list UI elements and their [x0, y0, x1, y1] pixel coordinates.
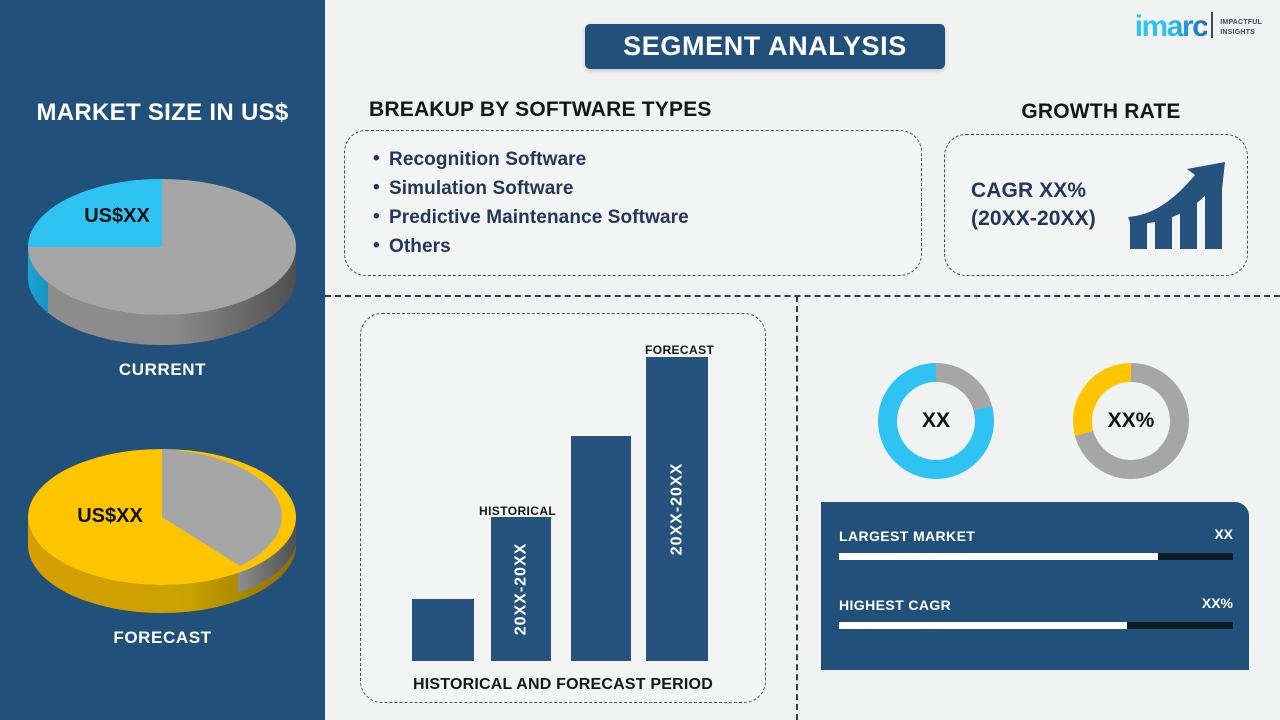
percent-donut-label: XX% [1092, 382, 1170, 460]
units-donut-label: XX [897, 382, 975, 460]
stat-progress-track [839, 622, 1233, 629]
stat-label: LARGEST MARKET [839, 528, 975, 544]
bar-2-label: 20XX-20XX [512, 543, 530, 636]
logo-tagline: IMPACTFUL INSIGHTS [1220, 18, 1262, 40]
bar-tag-historical: HISTORICAL [479, 504, 556, 518]
imarc-logo: imarc IMPACTFUL INSIGHTS [1135, 12, 1262, 40]
logo-wordmark: imarc [1135, 13, 1208, 40]
list-item: Simulation Software [373, 174, 921, 203]
vertical-divider [796, 296, 798, 720]
bar-4-label: 20XX-20XX [668, 463, 686, 556]
stat-label: HIGHEST CAGR [839, 597, 951, 613]
bar-tag-forecast: FORECAST [645, 343, 714, 357]
stat-row-largest-market: LARGEST MARKET XX [839, 528, 1233, 560]
bar-2: 20XX-20XX [491, 517, 551, 661]
list-item: Predictive Maintenance Software [373, 203, 921, 232]
cagr-line1: CAGR XX% [971, 177, 1096, 205]
cagr-line2: (20XX-20XX) [971, 205, 1096, 233]
market-size-panel: MARKET SIZE IN US$ [0, 0, 325, 720]
forecast-pie-caption: FORECAST [0, 628, 325, 648]
infographic-canvas: MARKET SIZE IN US$ [0, 0, 1280, 720]
current-market-size-pie: US$XX [0, 155, 325, 355]
growth-rate-heading: GROWTH RATE [941, 100, 1261, 124]
breakup-card: Recognition Software Simulation Software… [344, 130, 922, 276]
bars-caption: HISTORICAL AND FORECAST PERIOD [360, 676, 766, 694]
historical-forecast-card: HISTORICAL 20XX-20XX FORECAST 20XX-20XX [360, 313, 766, 703]
growth-rate-card: CAGR XX% (20XX-20XX) [944, 134, 1248, 276]
logo-tagline-line2: INSIGHTS [1220, 28, 1262, 37]
stat-row-highest-cagr: HIGHEST CAGR XX% [839, 597, 1233, 629]
units-donut: XX [878, 363, 994, 479]
breakup-heading: BREAKUP BY SOFTWARE TYPES [369, 98, 712, 122]
cagr-text: CAGR XX% (20XX-20XX) [971, 177, 1096, 232]
percent-donut: XX% [1073, 363, 1189, 479]
list-item: Recognition Software [373, 145, 921, 174]
stat-value: XX% [1202, 595, 1233, 611]
horizontal-divider [325, 295, 1280, 297]
page-title: SEGMENT ANALYSIS [585, 24, 945, 69]
market-size-title: MARKET SIZE IN US$ [0, 99, 325, 127]
bar-4: 20XX-20XX [646, 357, 708, 661]
list-item: Others [373, 232, 921, 261]
bar-3 [571, 436, 631, 661]
logo-tagline-line1: IMPACTFUL [1220, 18, 1262, 27]
growth-arrow-chart-icon [1125, 159, 1233, 260]
current-pie-caption: CURRENT [0, 360, 325, 380]
stat-progress-fill [839, 622, 1127, 629]
stat-progress-fill [839, 553, 1158, 560]
stat-value: XX [1214, 526, 1233, 542]
key-stats-panel: LARGEST MARKET XX HIGHEST CAGR XX% [821, 502, 1249, 670]
current-pie-svg [0, 155, 325, 350]
forecast-market-size-pie: US$XX [0, 425, 325, 625]
stat-progress-track [839, 553, 1233, 560]
forecast-pie-svg [0, 425, 325, 620]
logo-divider-icon [1211, 12, 1213, 38]
breakup-list: Recognition Software Simulation Software… [345, 131, 921, 261]
bar-1 [412, 599, 474, 661]
